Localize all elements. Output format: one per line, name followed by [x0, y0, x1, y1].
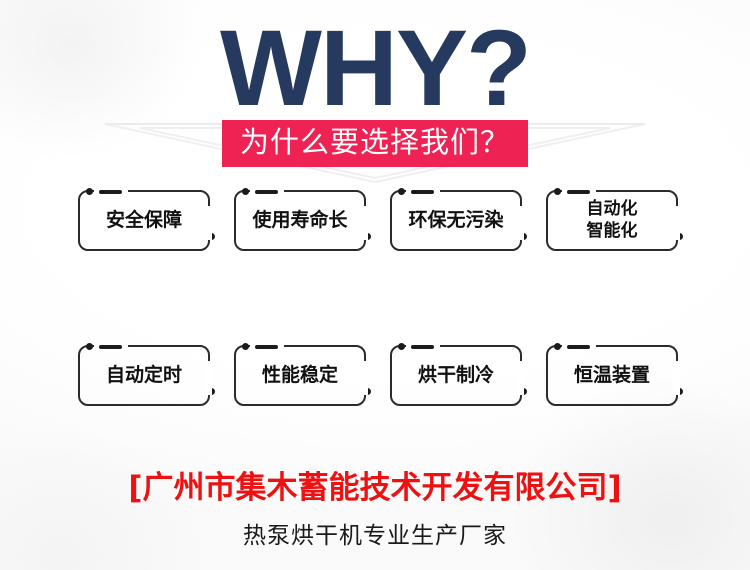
feature-box-automation: 自动化 智能化 — [546, 190, 678, 251]
feature-row-2: 自动定时 性能稳定 烘干制冷 恒温装置 — [78, 345, 678, 406]
dot-icon — [364, 233, 371, 240]
company-name: [广州市集木蓄能技术开发有限公司] — [0, 462, 750, 507]
dot-icon — [398, 343, 405, 350]
feature-label: 安全保障 — [106, 210, 182, 231]
dot-icon — [398, 188, 405, 195]
feature-label: 使用寿命长 — [252, 210, 347, 231]
dash-icon — [675, 211, 679, 234]
feature-label: 烘干制冷 — [418, 365, 494, 386]
feature-label: 自动定时 — [106, 365, 182, 386]
dot-icon — [86, 343, 93, 350]
dash-icon — [567, 345, 590, 349]
feature-label: 性能稳定 — [262, 365, 338, 386]
feature-box-drying-cooling: 烘干制冷 — [390, 345, 522, 406]
feature-row-1: 安全保障 使用寿命长 环保无污染 自动化 智能化 — [78, 190, 678, 251]
feature-box-auto-timer: 自动定时 — [78, 345, 210, 406]
dot-icon — [520, 388, 527, 395]
subtitle-banner: 为什么要选择我们？ — [222, 120, 528, 167]
promo-poster: WHY? 为什么要选择我们？ 安全保障 使用寿命长 环保无污染 — [0, 0, 750, 570]
dash-icon — [255, 345, 278, 349]
dot-icon — [676, 233, 683, 240]
dot-icon — [554, 188, 561, 195]
dot-icon — [554, 343, 561, 350]
dot-icon — [86, 188, 93, 195]
dash-icon — [567, 190, 590, 194]
dot-icon — [208, 388, 215, 395]
feature-box-stable-performance: 性能稳定 — [234, 345, 366, 406]
dash-icon — [411, 345, 434, 349]
dash-icon — [99, 345, 122, 349]
feature-box-eco: 环保无污染 — [390, 190, 522, 251]
dash-icon — [99, 190, 122, 194]
feature-label: 环保无污染 — [408, 210, 503, 231]
dot-icon — [242, 188, 249, 195]
dash-icon — [411, 190, 434, 194]
feature-box-lifespan: 使用寿命长 — [234, 190, 366, 251]
dash-icon — [363, 366, 367, 389]
dash-icon — [675, 366, 679, 389]
feature-box-safety: 安全保障 — [78, 190, 210, 251]
dot-icon — [208, 233, 215, 240]
feature-label: 自动化 智能化 — [587, 199, 638, 242]
dot-icon — [520, 233, 527, 240]
dash-icon — [255, 190, 278, 194]
dash-icon — [207, 366, 211, 389]
dash-icon — [519, 366, 523, 389]
feature-box-constant-temperature: 恒温装置 — [546, 345, 678, 406]
dot-icon — [676, 388, 683, 395]
tagline: 热泵烘干机专业生产厂家 — [0, 516, 750, 550]
dot-icon — [242, 343, 249, 350]
dot-icon — [364, 388, 371, 395]
page-title: WHY? — [0, 14, 750, 122]
dash-icon — [519, 211, 523, 234]
dash-icon — [363, 211, 367, 234]
subtitle-banner-wrap: 为什么要选择我们？ — [0, 120, 750, 167]
feature-label: 恒温装置 — [574, 365, 650, 386]
dash-icon — [207, 211, 211, 234]
